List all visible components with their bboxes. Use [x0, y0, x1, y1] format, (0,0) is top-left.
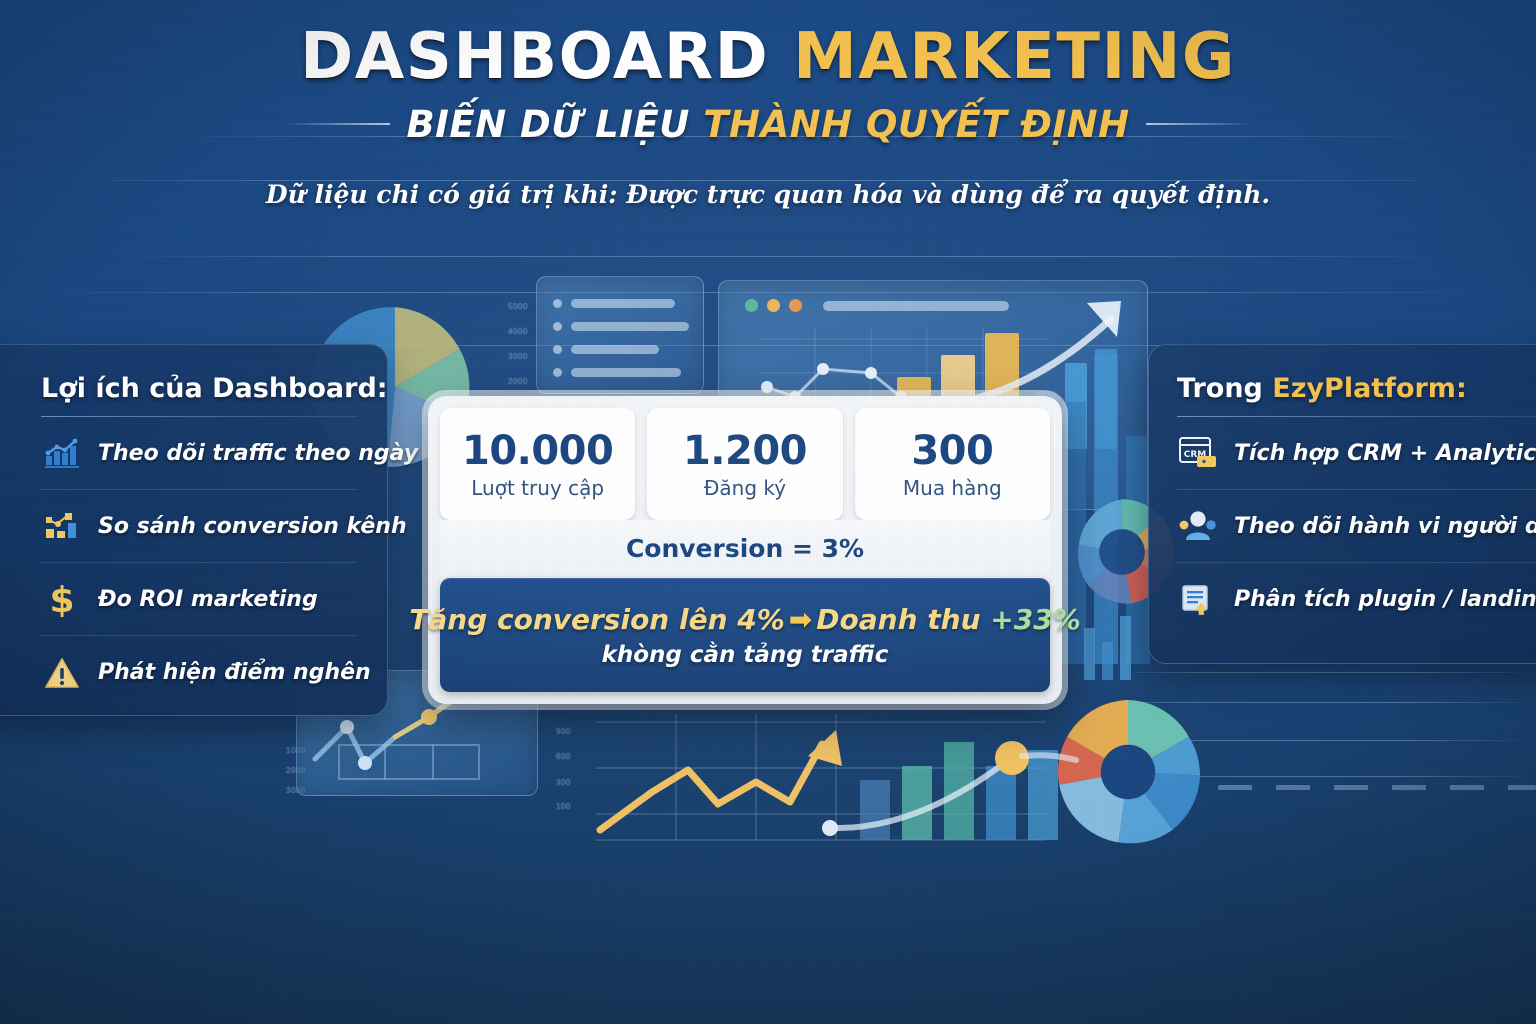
arrow-right-icon: ➡ — [785, 603, 816, 636]
platform-panel: Trong EzyPlatform: CRM Tích hợp CRM + An… — [1148, 344, 1536, 664]
list-item-label: So sánh conversion kênh — [98, 514, 407, 539]
bg-streak — [1120, 672, 1536, 673]
tagline: Dữ liệu chi có giá trị khi: Được trực qu… — [0, 180, 1536, 209]
stat-value: 10.000 — [462, 428, 613, 474]
header: DASHBOARD MARKETING BIẾN DỮ LIỆU THÀNH Q… — [0, 24, 1536, 209]
bg-axis-tick: 3000 — [508, 352, 528, 361]
list-item[interactable]: So sánh conversion kênh — [41, 490, 357, 563]
cta-part1: Tăng conversion lên 4% — [409, 603, 785, 636]
infographic-canvas: 5000 4000 3000 2000 — [0, 0, 1536, 1024]
stats-row: 10.000 Luợt truy cập 1.200 Đăng ký 300 M… — [440, 408, 1050, 520]
cta-highlight: +33% — [990, 603, 1080, 636]
stat-label: Đăng ký — [704, 476, 786, 500]
page-subtitle: BIẾN DỮ LIỆU THÀNH QUYẾT ĐỊNH — [406, 103, 1129, 146]
cta-part2: Doanh thu — [816, 603, 990, 636]
bg-mini-bars — [1082, 608, 1142, 685]
page-title: DASHBOARD MARKETING — [0, 24, 1536, 91]
benefits-panel-title: Lợi ích của Dashboard: — [41, 373, 357, 404]
svg-text:$: $ — [49, 581, 74, 617]
cta-headline: Tăng conversion lên 4%➡Doanh thu +33% — [409, 603, 1080, 636]
benefits-list: Theo dõi traffic theo ngày — [41, 417, 357, 709]
list-item-label: Phân tích plugin / landing page — [1234, 587, 1536, 612]
list-item-label: Theo dõi hành vi người dùng — [1234, 514, 1536, 539]
list-item-label: Theo dõi traffic theo ngày — [98, 441, 418, 466]
list-item[interactable]: Theo dõi hành vi người dùng — [1177, 490, 1536, 563]
stat-card-visits[interactable]: 10.000 Luợt truy cập — [440, 408, 635, 520]
title-accent: MARKETING — [793, 20, 1236, 94]
platform-title-main: Trong — [1177, 373, 1272, 404]
list-item-label: Tích hợp CRM + Analytics — [1234, 441, 1536, 466]
platform-panel-title: Trong EzyPlatform: — [1177, 373, 1536, 404]
users-icon — [1177, 505, 1219, 547]
stat-card-signups[interactable]: 1.200 Đăng ký — [647, 408, 842, 520]
list-item-label: Phát hiện điểm nghên — [98, 660, 371, 685]
list-item[interactable]: Phân tích plugin / landing page — [1177, 563, 1536, 636]
stat-value: 1.200 — [683, 428, 807, 474]
rule-left — [285, 123, 390, 125]
bg-streak — [120, 256, 1460, 257]
bg-axis-tick: 5000 — [508, 302, 528, 311]
stat-label: Luợt truy cập — [471, 476, 604, 500]
list-item[interactable]: Theo dõi traffic theo ngày — [41, 417, 357, 490]
list-item[interactable]: CRM Tích hợp CRM + Analytics — [1177, 417, 1536, 490]
platform-list: CRM Tích hợp CRM + Analytics — [1177, 417, 1536, 636]
cta-subline: khòng cằn tảng traffic — [602, 642, 889, 668]
scatter-bar-icon — [41, 505, 83, 547]
bg-dashed-line — [1218, 785, 1536, 790]
stat-card-purchases[interactable]: 300 Mua hàng — [855, 408, 1050, 520]
platform-title-accent: EzyPlatform: — [1272, 373, 1466, 404]
list-item-label: Đo ROI marketing — [98, 587, 318, 612]
conversion-strip: Conversion = 3% — [440, 520, 1050, 576]
subtitle-main: BIẾN DỮ LIỆU — [406, 103, 703, 146]
subtitle-row: BIẾN DỮ LIỆU THÀNH QUYẾT ĐỊNH — [0, 103, 1536, 146]
rule-right — [1146, 123, 1251, 125]
list-item[interactable]: Phát hiện điểm nghên — [41, 636, 357, 709]
bg-axis-tick: 4000 — [508, 327, 528, 336]
list-item[interactable]: $ Đo ROI marketing — [41, 563, 357, 636]
crm-window-icon: CRM — [1177, 432, 1219, 474]
dollar-icon: $ — [41, 578, 83, 620]
cta-banner: Tăng conversion lên 4%➡Doanh thu +33% kh… — [440, 578, 1050, 692]
benefits-panel: Lợi ích của Dashboard: — [0, 344, 388, 716]
stat-value: 300 — [911, 428, 993, 474]
bg-window-list — [536, 276, 704, 394]
bg-axis-tick: 2000 — [508, 377, 528, 386]
bg-chart-bottom — [560, 700, 1080, 865]
bar-chart-trend-icon — [41, 432, 83, 474]
subtitle-accent: THÀNH QUYẾT ĐỊNH — [703, 103, 1129, 146]
warning-triangle-icon — [41, 652, 83, 694]
document-upload-icon — [1177, 579, 1219, 621]
stat-label: Mua hàng — [903, 476, 1002, 500]
title-main: DASHBOARD — [300, 20, 793, 94]
metrics-card: 10.000 Luợt truy cập 1.200 Đăng ký 300 M… — [428, 396, 1062, 704]
